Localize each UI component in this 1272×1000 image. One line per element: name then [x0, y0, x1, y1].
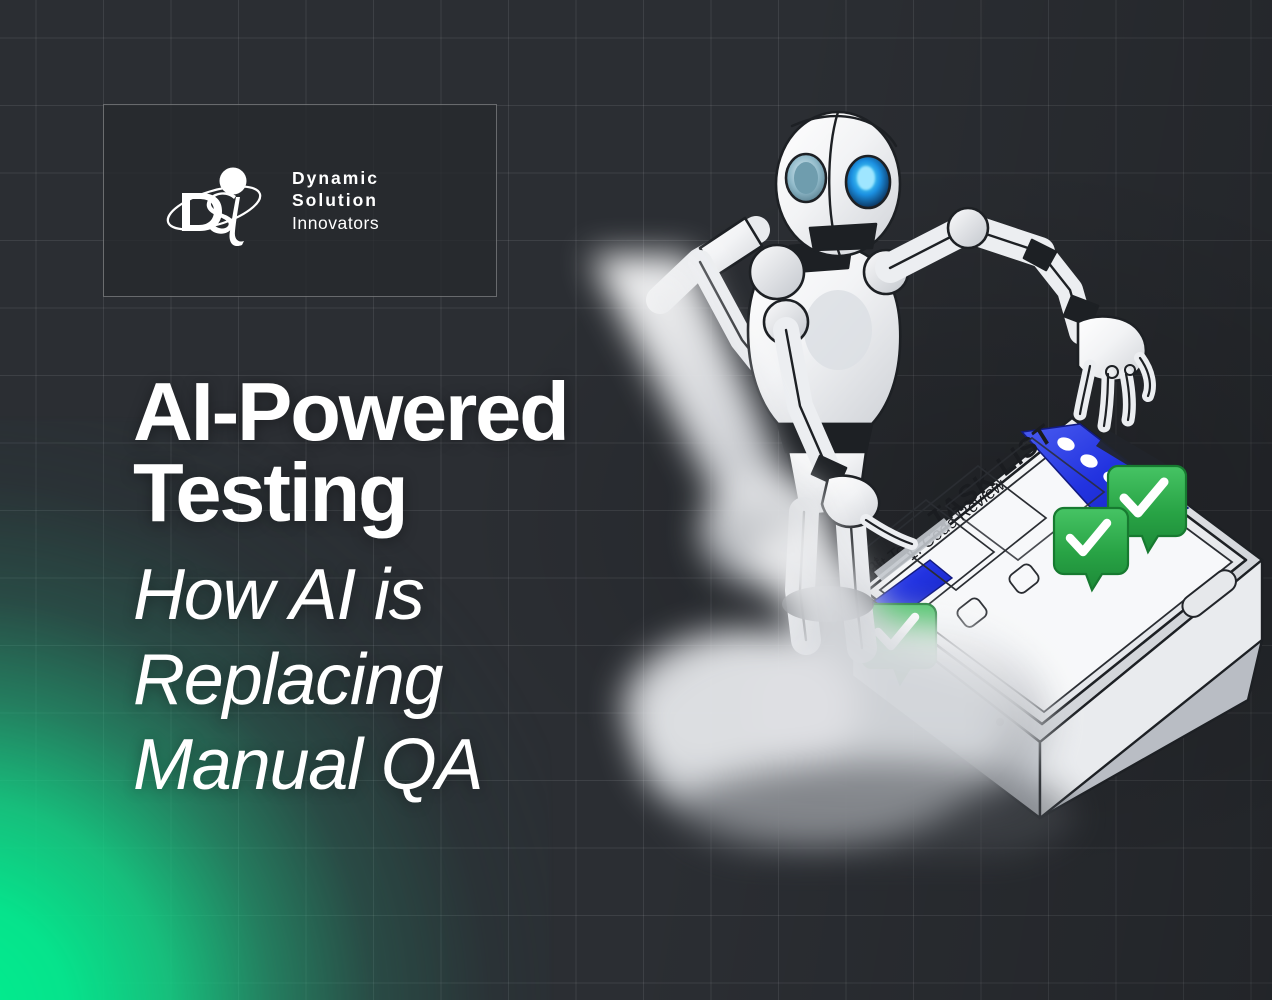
headline-block: AI-Powered Testing How AI is Replacing M… [133, 372, 693, 808]
headline-title: AI-Powered Testing [133, 372, 693, 533]
marketing-banner: TASK LIST 1. Code Review 2. Unit Test 3.… [0, 0, 1272, 1000]
device-sensor [996, 718, 1004, 726]
robot-hand [1078, 316, 1150, 426]
robot-pointing-hand [822, 476, 912, 544]
headline-subtitle: How AI is Replacing Manual QA [133, 553, 693, 808]
